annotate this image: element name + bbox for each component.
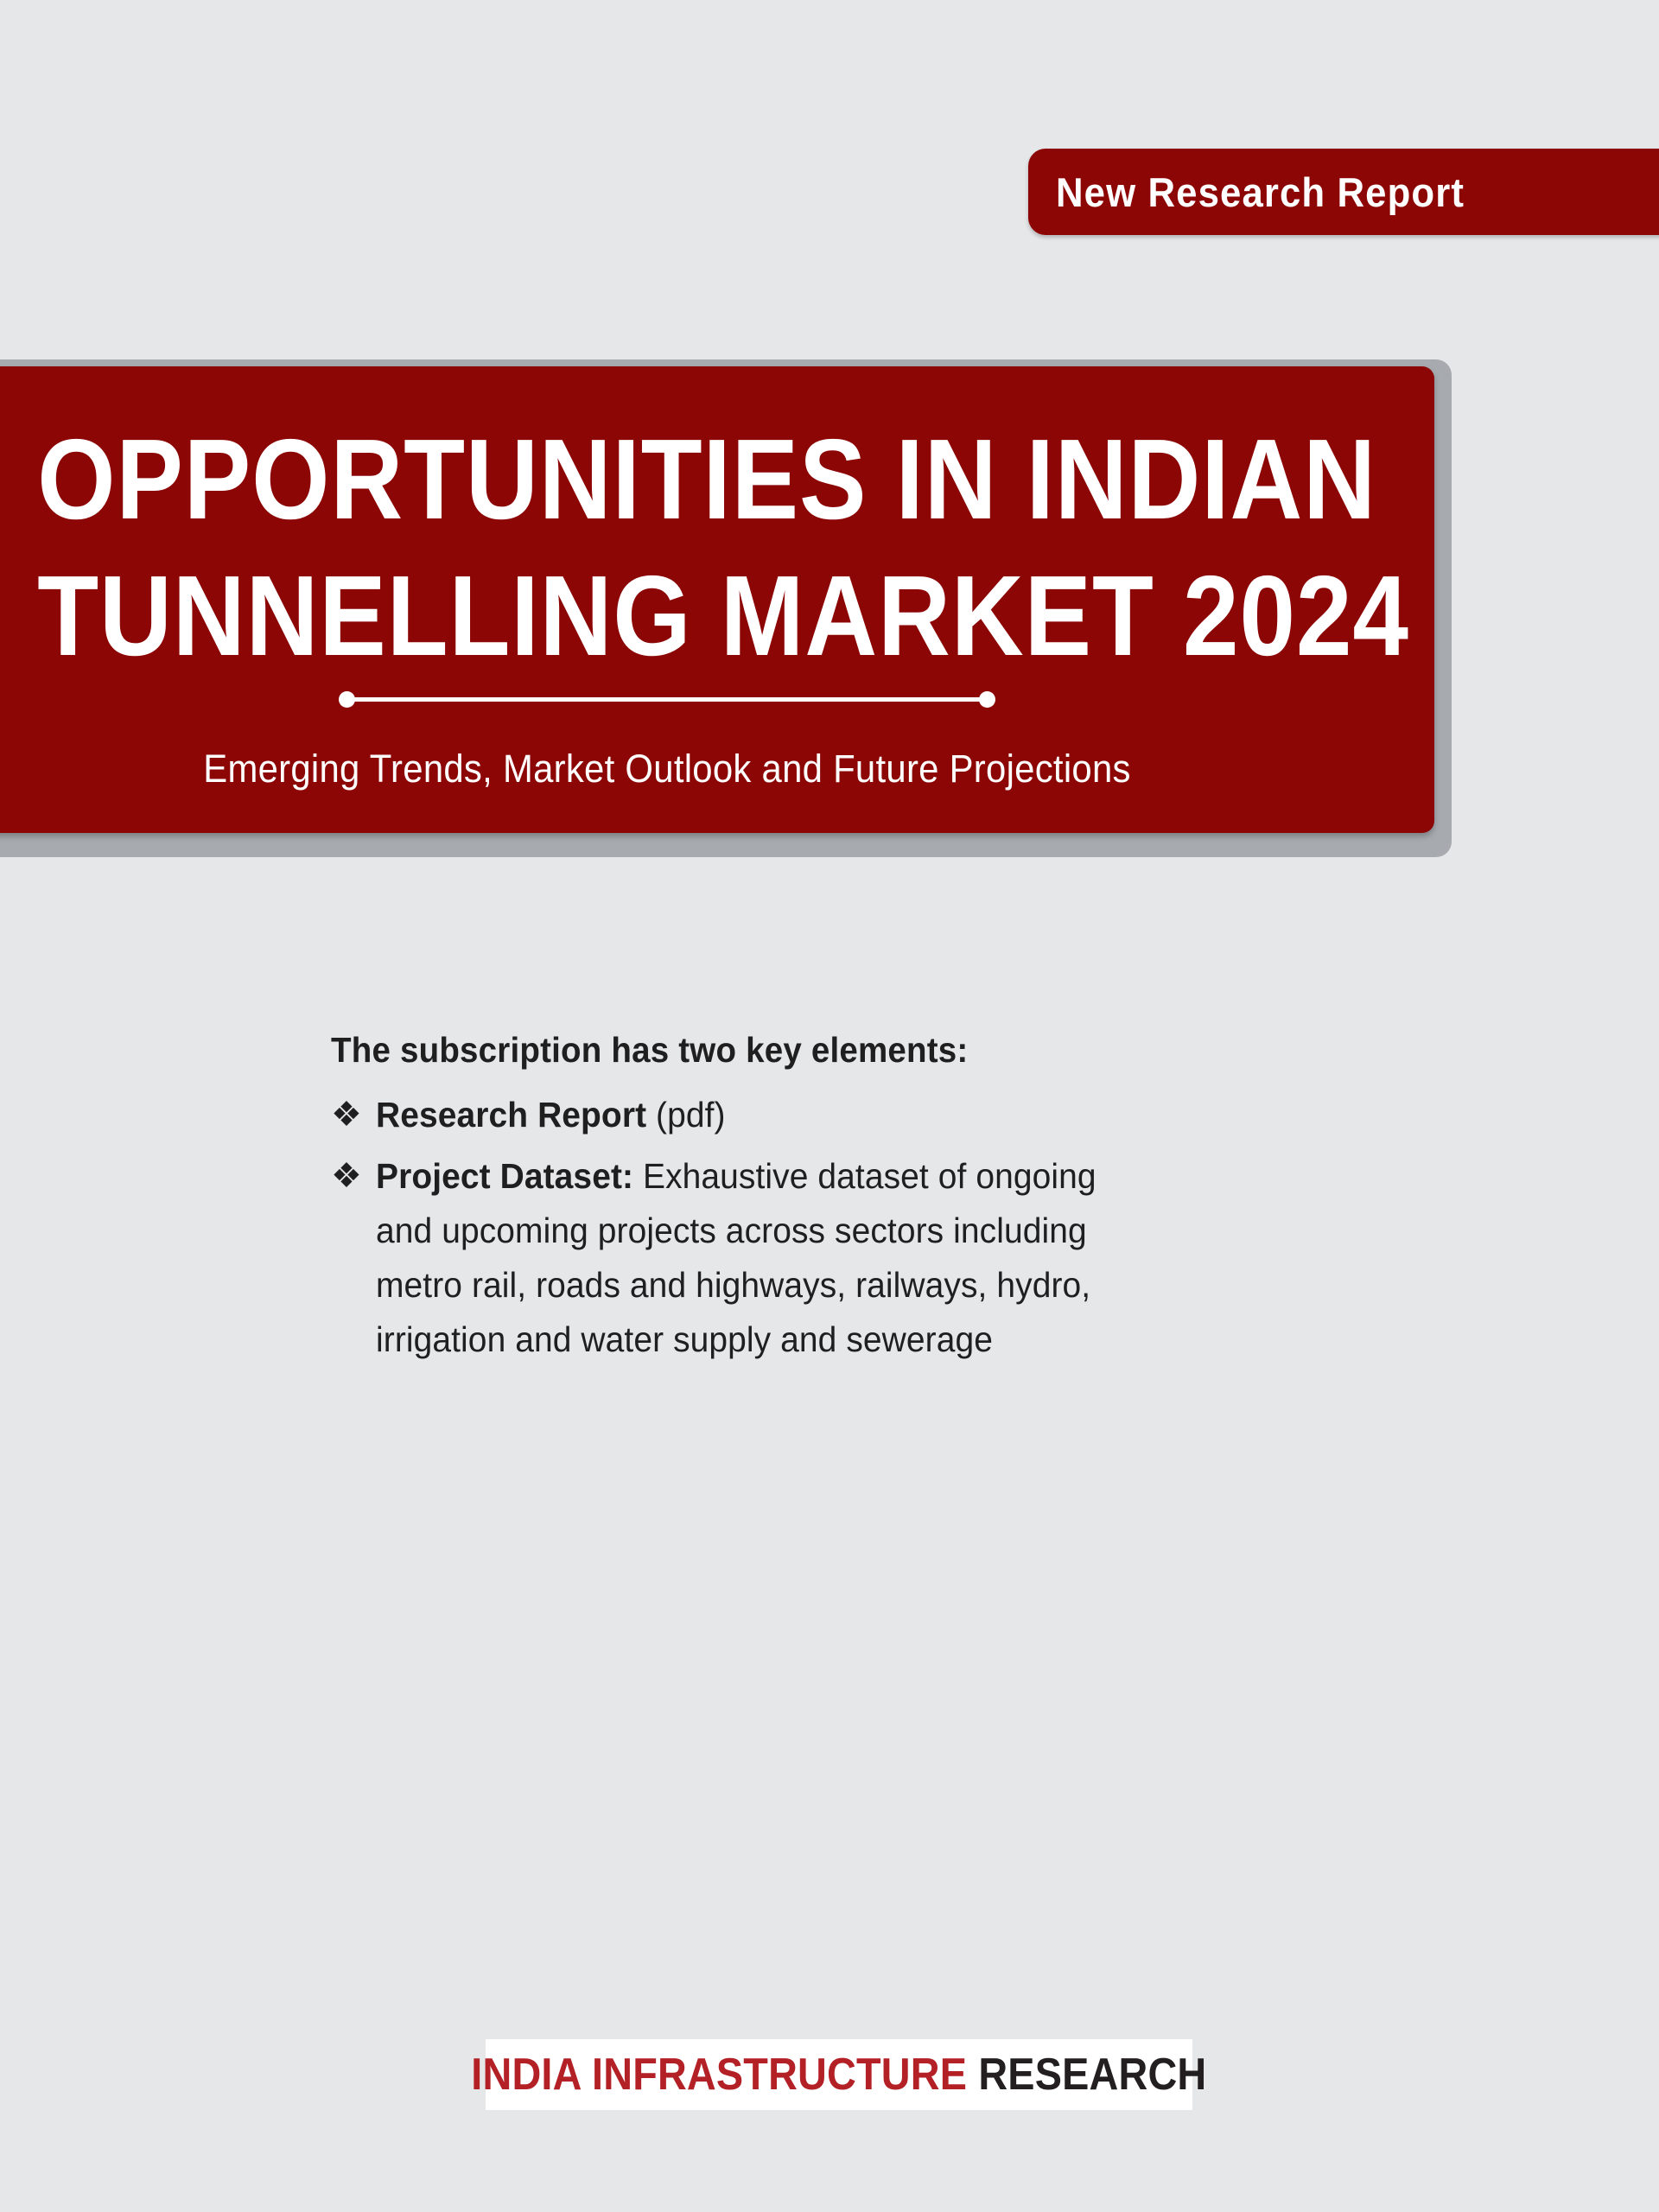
subscription-heading: The subscription has two key elements: [331,1030,1192,1071]
diamond-bullet-icon: ❖ [331,1088,376,1142]
report-title: OPPORTUNITIES IN INDIAN TUNNELLING MARKE… [0,411,1434,684]
title-divider-ornament [0,691,1386,707]
footer-logo: INDIA INFRASTRUCTURE RESEARCH [486,2039,1192,2110]
subscription-item-text: Project Dataset: Exhaustive dataset of o… [376,1149,1098,1367]
subscription-item-rest: (pdf) [646,1095,725,1135]
title-card-frame: OPPORTUNITIES IN INDIAN TUNNELLING MARKE… [0,359,1452,857]
new-research-report-badge: New Research Report [1028,149,1659,235]
report-subtitle: Emerging Trends, Market Outlook and Futu… [0,747,1336,791]
logo-secondary-text [967,2050,978,2100]
report-title-line-1: OPPORTUNITIES IN INDIAN [37,411,1345,548]
subscription-item-label: Research Report [376,1095,646,1135]
badge-label: New Research Report [1056,168,1465,216]
logo-secondary-word: RESEARCH [978,2050,1206,2100]
report-title-line-2: TUNNELLING MARKET 2024 [37,548,1345,684]
divider-dot-right-icon [979,691,995,708]
diamond-bullet-icon: ❖ [331,1149,376,1204]
list-item: ❖ Project Dataset: Exhaustive dataset of… [331,1149,1247,1367]
logo-primary-text: INDIA INFRASTRUCTURE [471,2050,967,2100]
title-card-panel: OPPORTUNITIES IN INDIAN TUNNELLING MARKE… [0,366,1434,833]
title-divider-inner [339,691,995,707]
subscription-item-label: Project Dataset: [376,1156,633,1196]
divider-line [346,697,988,702]
subscription-block: The subscription has two key elements: ❖… [331,1030,1247,1374]
list-item: ❖ Research Report (pdf) [331,1088,1247,1142]
logo-text: INDIA INFRASTRUCTURE RESEARCH [471,2049,1206,2101]
subscription-item-text: Research Report (pdf) [376,1088,1098,1142]
